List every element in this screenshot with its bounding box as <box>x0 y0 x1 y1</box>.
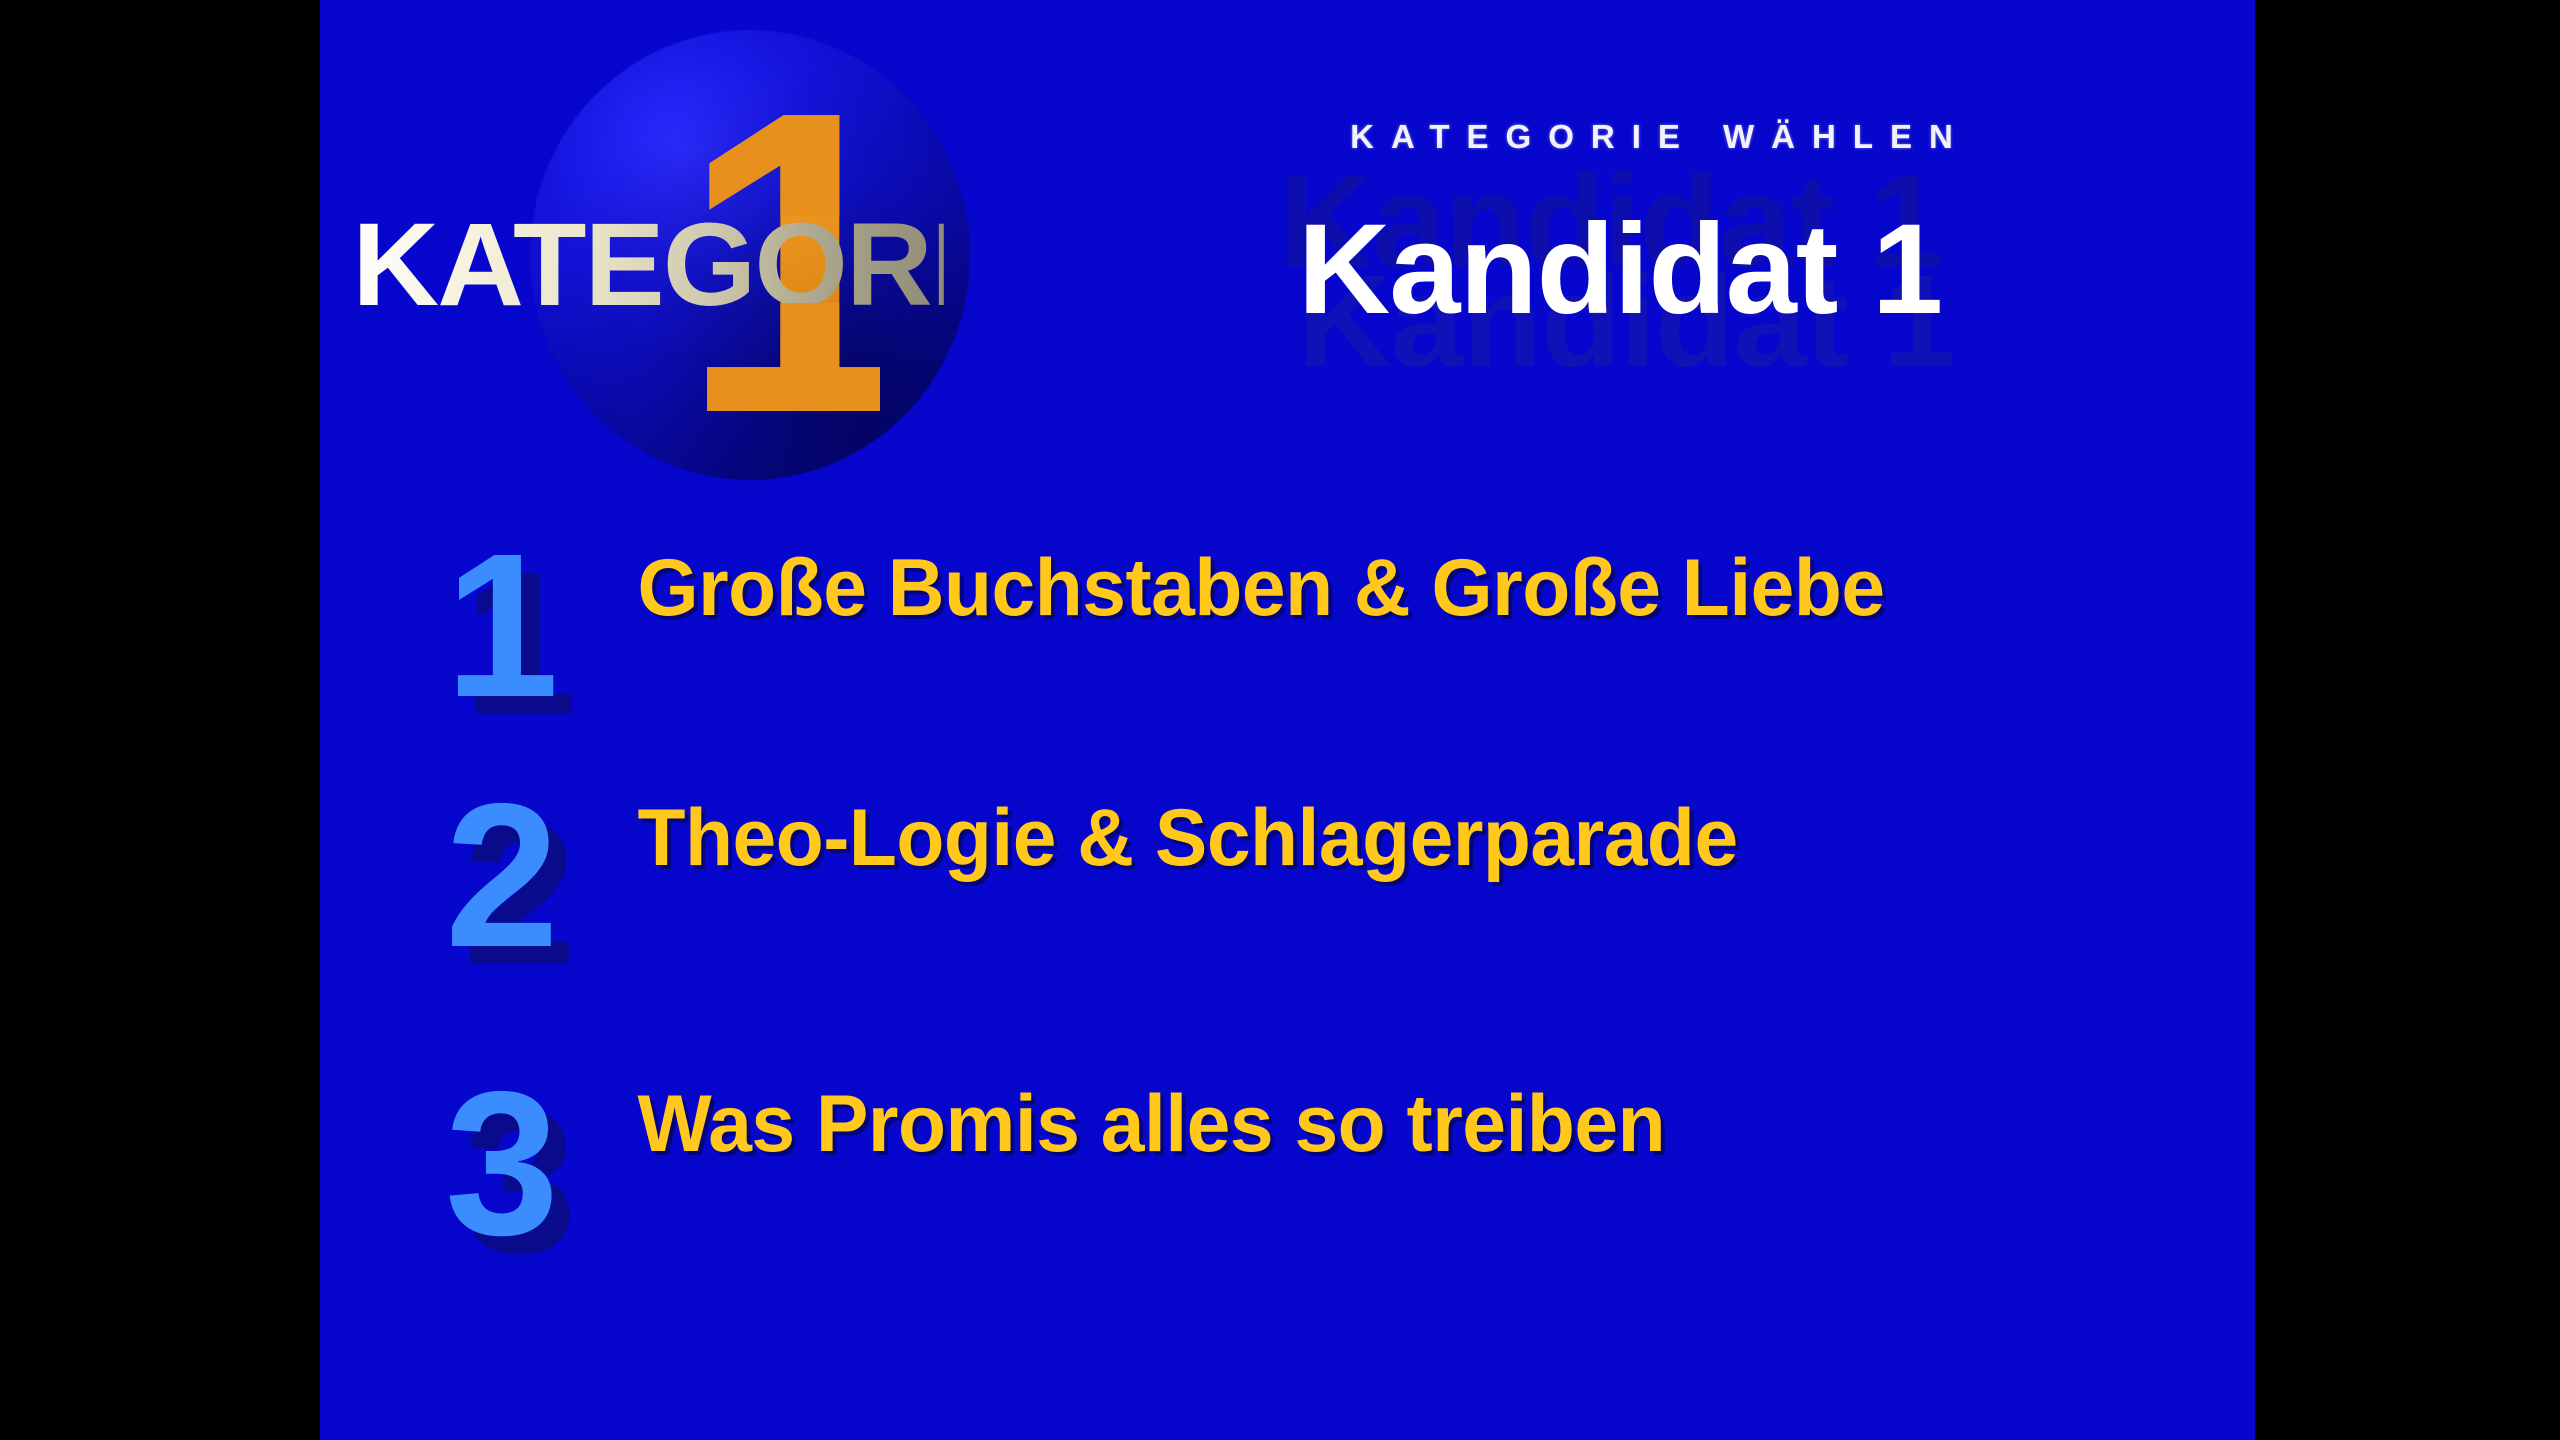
category-label-3: Was Promis alles so treiben <box>620 1060 2191 1170</box>
category-option-3[interactable]: 3 Was Promis alles so treiben <box>380 1060 2240 1260</box>
letterbox-bar-left <box>0 0 320 1440</box>
category-option-2[interactable]: 2 Theo-Logie & Schlagerparade <box>380 770 2240 1060</box>
category-number-1: 1 <box>380 520 620 726</box>
letterbox-bar-right <box>2255 0 2560 1440</box>
category-label-2: Theo-Logie & Schlagerparade <box>620 770 2191 884</box>
screenshot-stage: 1 KATEGORIEN 1 KATEGORIE WÄHLEN Kandidat… <box>0 0 2560 1440</box>
candidate-title: Kandidat 1 Kandidat 1 Kandidat 1 <box>1020 175 2220 365</box>
logo-number-one-front: 1 <box>680 63 880 463</box>
category-list: 1 Große Buchstaben & Große Liebe 2 Theo-… <box>380 520 2240 1260</box>
category-number-2: 2 <box>380 770 620 976</box>
kategorien-logo: 1 KATEGORIEN 1 <box>350 15 940 495</box>
candidate-title-text: Kandidat 1 <box>1020 175 2220 365</box>
broadcast-screen: 1 KATEGORIEN 1 KATEGORIE WÄHLEN Kandidat… <box>320 0 2255 1440</box>
category-label-1: Große Buchstaben & Große Liebe <box>620 520 2191 634</box>
category-number-3: 3 <box>380 1060 620 1264</box>
category-option-1[interactable]: 1 Große Buchstaben & Große Liebe <box>380 520 2240 770</box>
